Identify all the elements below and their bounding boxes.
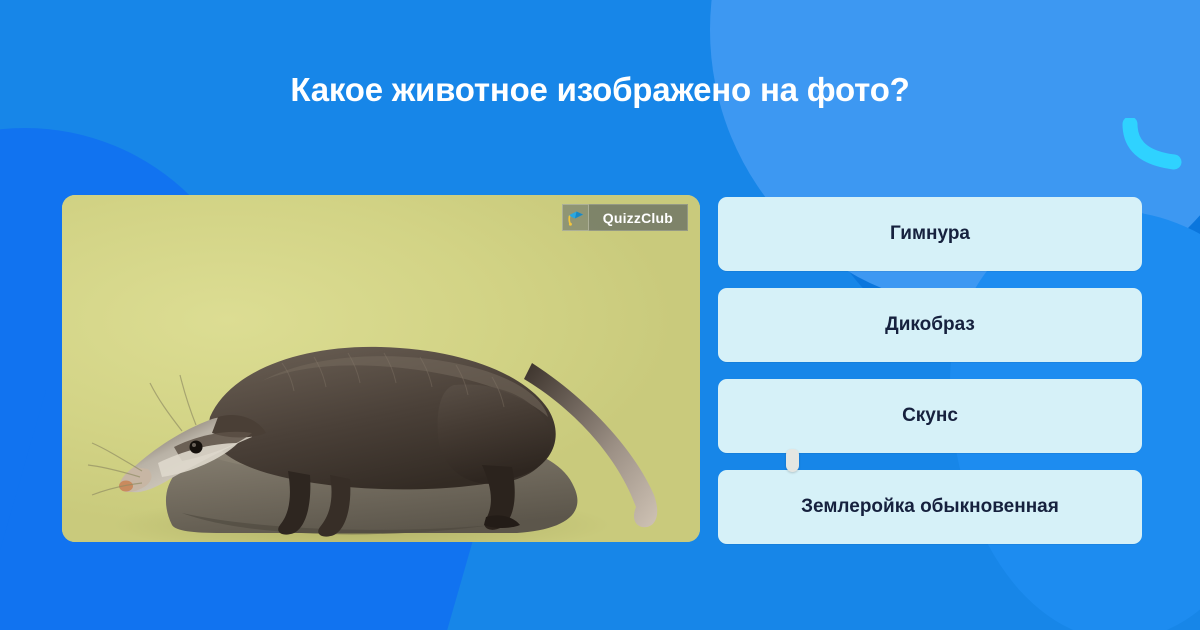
page-title: Какое животное изображено на фото?: [0, 72, 1200, 108]
answer-option-label: Дикобраз: [885, 314, 975, 336]
answer-option-label: Землеройка обыкновенная: [801, 496, 1059, 518]
cursor-pin: [786, 449, 799, 472]
watermark-label: QuizzClub: [589, 204, 688, 231]
answer-option-4[interactable]: Землеройка обыкновенная: [718, 470, 1142, 544]
answer-option-label: Скунс: [902, 405, 958, 427]
answer-option-label: Гимнура: [890, 223, 970, 245]
answer-option-1[interactable]: Гимнура: [718, 197, 1142, 271]
watermark: QuizzClub: [562, 204, 688, 231]
answer-option-3[interactable]: Скунс: [718, 379, 1142, 453]
cyan-swoosh-icon: [1122, 118, 1184, 170]
answer-list: Гимнура Дикобраз Скунс Землеройка обыкно…: [718, 197, 1142, 544]
graduation-cap-icon: [562, 204, 589, 231]
photo-illustration: [62, 195, 700, 542]
quiz-card: Какое животное изображено на фото?: [0, 0, 1200, 630]
answer-option-2[interactable]: Дикобраз: [718, 288, 1142, 362]
question-photo: QuizzClub: [62, 195, 700, 542]
